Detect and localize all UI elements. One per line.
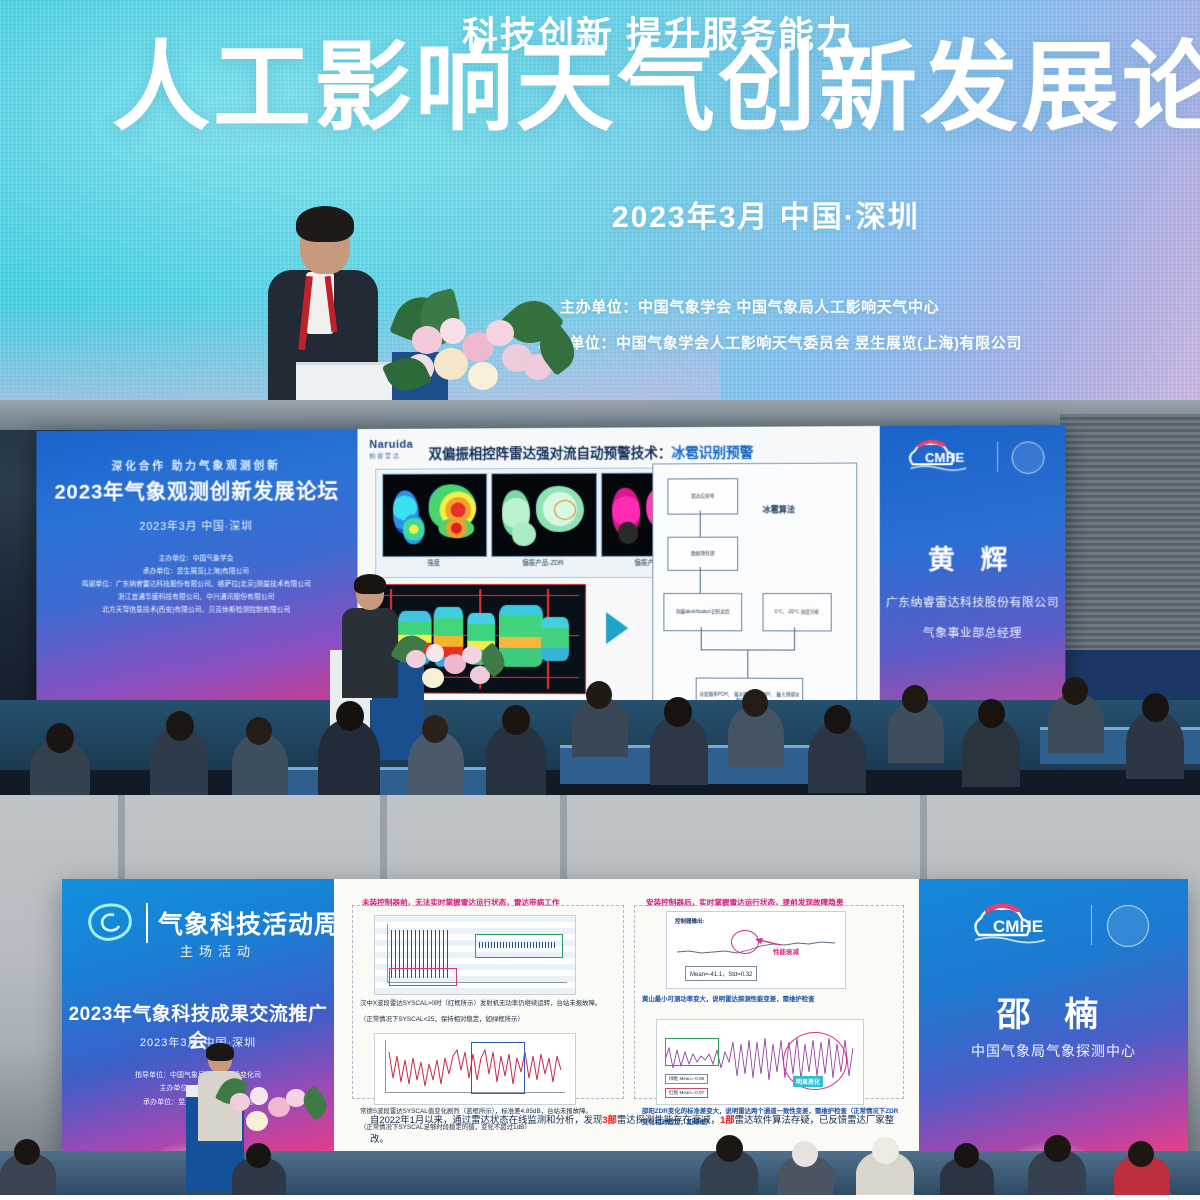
ceiling-support-beam [118,795,125,883]
radar-label-zdr: 偏振产品-ZDR [491,557,595,567]
backdrop-date: 2023年3月 中国·深圳 [612,192,920,236]
backdrop-title: 人工影响天气创新发展论坛 [112,28,1200,148]
cmhe-cloud-icon: CMHE [967,901,1077,947]
slide-title-accent: 冰雹识别预警 [671,445,753,461]
radar-image-intensity [382,473,487,557]
annotation-obvious-deterioration: 明显恶化 [793,1076,823,1087]
panel-middle-forum-photo: 深化合作 助力气象观测创新 2023年气象观测创新发展论坛 2023年3月 中国… [0,400,1200,795]
right-speaker-board: CMHE 邵 楠 中国气象局气象探测中心 [919,879,1188,1155]
backdrop-organizer-line-2: 承办单位：中国气象学会人工影响天气委员会 昱生展览(上海)有限公司 [538,332,1022,353]
wall-louver-panel [1060,414,1200,654]
institution-seal-icon [1107,905,1149,947]
note-left-1: 汉中X波段雷达SYSCAL>0时（红框所示）发射机无功率仍继续运转，台站未报故障… [360,999,618,1010]
naruida-logo-cn: 纳睿雷达 [369,451,413,460]
backdrop-organizer-line-1: 主办单位：中国气象学会 中国气象局人工影响天气中心 [560,296,939,317]
presentation-slide: 未装控制器前，无法实时掌握雷达运行状态，雷达带病工作 安装控制器后，实时掌握雷达… [334,879,919,1155]
radar-image-zdr [491,473,597,557]
flow-node-temp-height: 0℃、-20℃ 高度分析 [763,593,832,631]
chart-syscal-hanzhong [374,915,576,995]
org-line: 鸣谢单位：广东纳睿雷达科技股份有限公司、维萨拉(北京)测量技术有限公司 [44,579,350,592]
photo-collage: 科技创新 提升服务能力 人工影响天气创新发展论坛 2023年3月 中国·深圳 主… [0,0,1200,1200]
org-line: 浙江宜通华盛科技有限公司、中兴通讯股份有限公司 [44,592,350,605]
cmhe-cloud-icon: CMHE [902,438,991,475]
flow-node-reflectivity: 雷达反射率 [667,478,738,514]
chart-controller-output: 控制器输出: 性能衰减 Mean=-41.1，Std=0.32 [666,911,846,989]
cmhe-logo: CMHE [902,437,1042,474]
flower-arrangement [390,292,580,400]
summary-count-2: 1部 [720,1114,735,1125]
svg-text:CMHE: CMHE [925,450,965,466]
radar-label-intensity: 强度 [382,557,485,567]
left-board-title: 2023年气象观测创新发展论坛 [36,475,357,506]
podium [296,362,392,400]
org-line: 北方天穹信息技术(西安)有限公司、贝克休斯检测控制有限公司 [44,604,350,617]
cmhe-logo: CMHE [967,901,1147,949]
flow-node-storm-track: 风暴identification识别追踪 [663,593,742,631]
chart-output-label: 控制器输出: [675,917,704,925]
summary-mid: 雷达探测性能存在衰减， [617,1114,720,1125]
ceiling-support-beam [560,795,567,883]
left-board-subtitle: 深化合作 助力气象观测创新 [36,457,357,474]
naruida-logo: Naruida 纳睿雷达 [369,439,413,460]
left-board-organizers: 主办单位：中国气象学会 承办单位：昱生展览(上海)有限公司 鸣谢单位：广东纳睿雷… [44,553,350,617]
tech-week-logo: 气象科技活动周 主场活动 [84,901,314,957]
tech-week-title: 气象科技活动周 [158,905,334,941]
org-line: 主办单位：中国气象学会 [44,553,350,566]
note-right-1: 黄山最小可测功率变大，说明雷达探测性能变差，需维护检查 [642,995,902,1006]
ceiling-support-beam [380,795,387,883]
note-left-2: （正常情况下SYSCAL<25，保持相对稳定，如绿框所示） [360,1015,618,1026]
chart-zdr-variation: 明显恶化 绿框 Mean=-0.08 红框 Mean=-0.07 [656,1019,864,1105]
annotation-badge-red: 红框 Mean=-0.07 [665,1088,708,1098]
summary-count-1: 3部 [602,1114,617,1125]
slide-title-main: 双偏振相控阵雷达强对流自动预警技术： [429,445,672,461]
annotation-badge-green: 绿框 Mean=-0.08 [665,1074,708,1084]
svg-text:CMHE: CMHE [993,917,1043,936]
left-board-date: 2023年3月 中国·深圳 [36,517,357,534]
speaker-role: 气象事业部总经理 [884,624,1061,641]
audience-seating [0,675,1200,795]
tech-week-subtitle: 主场活动 [180,941,256,960]
institution-seal-icon [1012,441,1045,474]
audience-foreground [0,1135,1200,1195]
flower-arrangement [218,1073,328,1137]
org-line: 承办单位：昱生展览(上海)有限公司 [44,566,350,579]
slide-title: 双偏振相控阵雷达强对流自动预警技术：冰雹识别预警 [429,441,754,463]
cloud-swirl-icon [84,901,138,945]
chart-syscal-changde [374,1033,576,1105]
flow-node-preprocess: 数据预处理 [667,537,738,571]
speaker-organization: 中国气象局气象探测中心 [919,1041,1188,1061]
naruida-logo-en: Naruida [369,439,413,451]
panel-bottom-forum-photo: 气象科技活动周 主场活动 2023年气象科技成果交流推广会 2023年3月 中国… [0,795,1200,1195]
flowchart-title: 冰雹算法 [763,504,796,515]
annotation-performance-decay: 性能衰减 [773,946,799,956]
flow-arrow-icon [606,612,628,644]
summary-pre: 自2022年1月以来，通过雷达状态在线监测和分析，发现 [370,1114,602,1125]
annotation-mean-std: Mean=-41.1，Std=0.32 [685,966,757,981]
speaker-name: 邵 楠 [919,987,1188,1036]
ceiling-support-beam [920,795,927,883]
panel-top-forum-photo: 科技创新 提升服务能力 人工影响天气创新发展论坛 2023年3月 中国·深圳 主… [0,0,1200,400]
speaker-name: 黄 辉 [880,539,1066,577]
speaker-organization: 广东纳睿雷达科技股份有限公司 [884,594,1061,610]
